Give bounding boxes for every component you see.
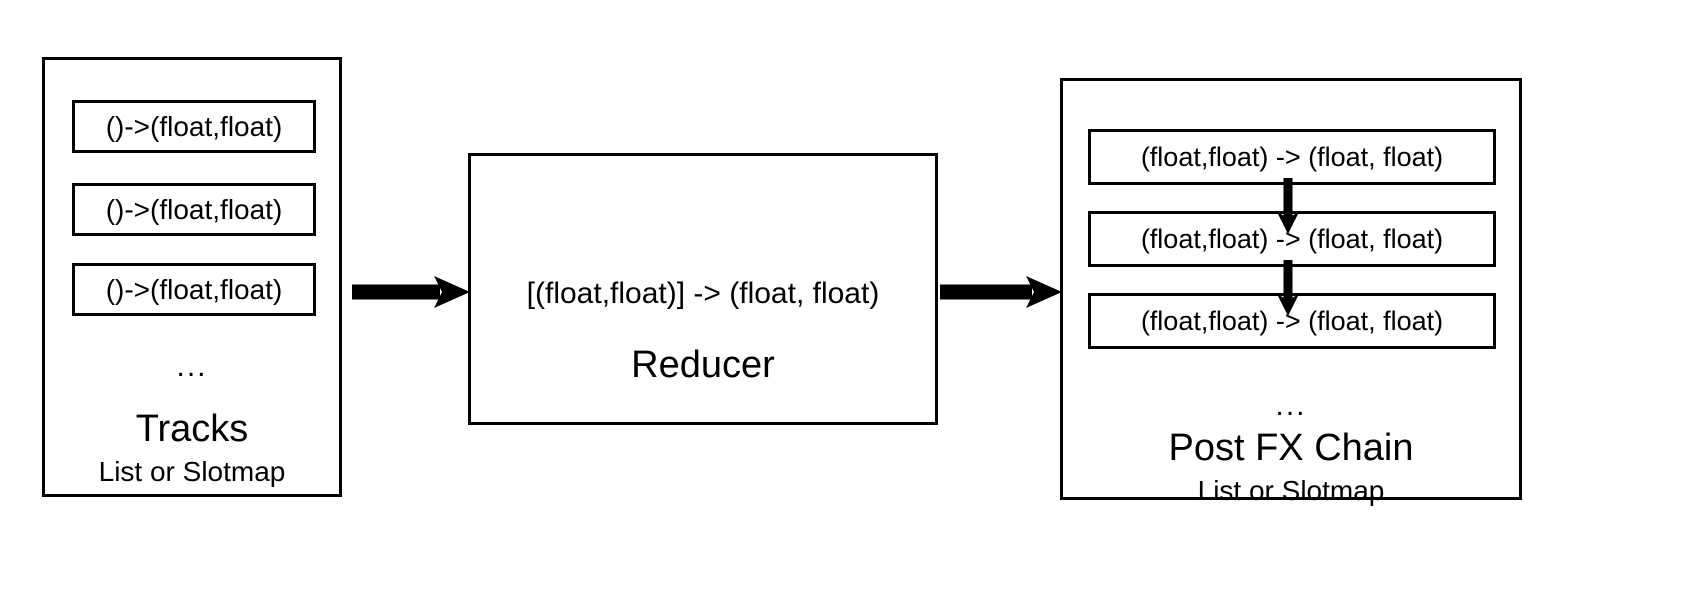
diagram-canvas: ()->(float,float) ()->(float,float) ()->… bbox=[0, 0, 1694, 600]
reducer-label: Reducer bbox=[471, 346, 935, 384]
post-fx-signature-text: (float,float) -> (float, float) bbox=[1141, 144, 1443, 171]
tracks-container: ()->(float,float) ()->(float,float) ()->… bbox=[42, 57, 342, 497]
reducer-container: [(float,float)] -> (float, float) Reduce… bbox=[468, 153, 938, 425]
track-signature-box: ()->(float,float) bbox=[72, 183, 316, 236]
arrow-tracks-to-reducer bbox=[352, 272, 470, 312]
tracks-caption: Tracks bbox=[45, 410, 339, 448]
track-signature-text: ()->(float,float) bbox=[106, 276, 283, 304]
arrow-fx-stage-2-to-3 bbox=[1273, 260, 1303, 316]
track-signature-text: ()->(float,float) bbox=[106, 113, 283, 141]
arrow-fx-stage-1-to-2 bbox=[1273, 178, 1303, 234]
reducer-signature-text: [(float,float)] -> (float, float) bbox=[471, 279, 935, 309]
post-fx-ellipsis: ... bbox=[1063, 391, 1519, 421]
track-signature-text: ()->(float,float) bbox=[106, 196, 283, 224]
post-fx-caption: Post FX Chain bbox=[1063, 429, 1519, 467]
post-fx-subcaption: List or Slotmap bbox=[1063, 477, 1519, 505]
tracks-ellipsis: ... bbox=[45, 352, 339, 382]
track-signature-box: ()->(float,float) bbox=[72, 263, 316, 316]
arrow-reducer-to-post-fx bbox=[940, 272, 1062, 312]
post-fx-signature-box: (float,float) -> (float, float) bbox=[1088, 129, 1496, 185]
tracks-subcaption: List or Slotmap bbox=[45, 458, 339, 486]
track-signature-box: ()->(float,float) bbox=[72, 100, 316, 153]
